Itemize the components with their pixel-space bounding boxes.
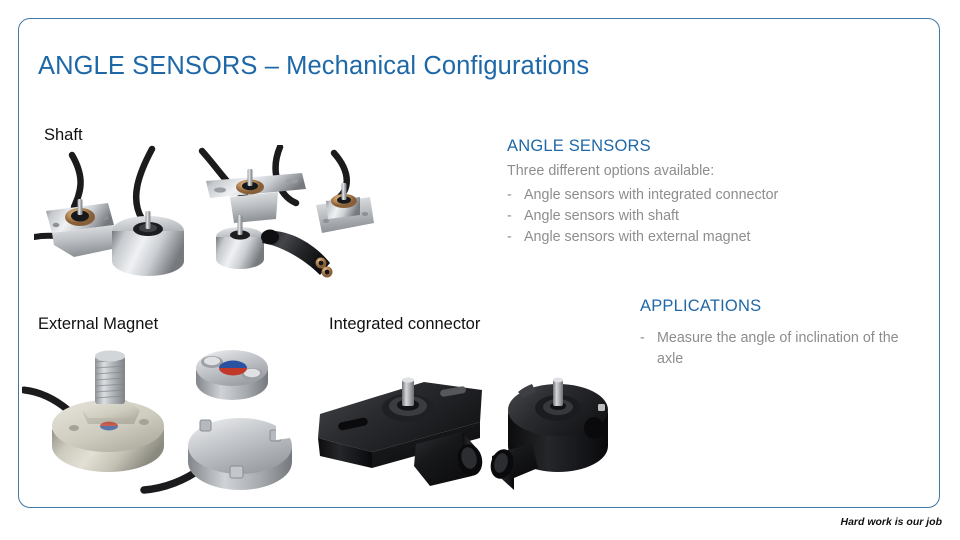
list-item-label: Measure the angle of inclination of the … <box>657 328 907 369</box>
slide-canvas: ANGLE SENSORS – Mechanical Configuration… <box>0 0 960 540</box>
external-magnet-illustration <box>22 338 302 498</box>
applications-list: - Measure the angle of inclination of th… <box>640 328 907 369</box>
list-item: - Angle sensors with integrated connecto… <box>507 185 778 206</box>
angle-sensors-list: - Angle sensors with integrated connecto… <box>507 185 778 247</box>
list-item-label: Angle sensors with shaft <box>524 206 679 227</box>
list-item-label: Angle sensors with external magnet <box>524 227 751 248</box>
integrated-connector-photo <box>312 352 632 500</box>
bullet-dash: - <box>507 185 524 206</box>
bullet-dash: - <box>507 206 524 227</box>
shaft-sensors-illustration <box>34 145 374 290</box>
caption-shaft: Shaft <box>44 126 83 145</box>
list-item-label: Angle sensors with integrated connector <box>524 185 778 206</box>
integrated-connector-illustration <box>312 352 632 500</box>
angle-sensors-heading: ANGLE SENSORS <box>507 137 651 156</box>
list-item: - Angle sensors with shaft <box>507 206 778 227</box>
external-magnet-photo <box>22 338 302 498</box>
angle-sensors-lead: Three different options available: <box>507 163 714 179</box>
list-item: - Angle sensors with external magnet <box>507 227 778 248</box>
applications-heading: APPLICATIONS <box>640 297 761 316</box>
page-title: ANGLE SENSORS – Mechanical Configuration… <box>38 52 589 81</box>
bullet-dash: - <box>640 328 657 349</box>
list-item: - Measure the angle of inclination of th… <box>640 328 907 369</box>
footer-tagline: Hard work is our job <box>840 516 942 528</box>
caption-integrated-connector: Integrated connector <box>329 315 480 334</box>
bullet-dash: - <box>507 227 524 248</box>
shaft-sensors-photo <box>34 145 374 290</box>
caption-external-magnet: External Magnet <box>38 315 158 334</box>
